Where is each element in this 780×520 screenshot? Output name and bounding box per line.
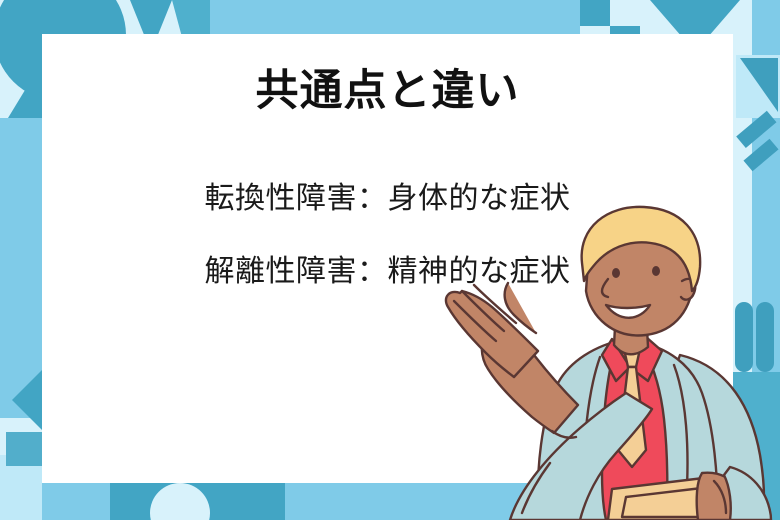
body-line-1: 転換性障害：身体的な症状 [42, 173, 733, 217]
content-card: 共通点と違い 転換性障害：身体的な症状 解離性障害：精神的な症状 [42, 34, 733, 483]
bg-square-left [6, 432, 42, 466]
bg-bottom-left-block [0, 466, 42, 520]
page-title: 共通点と違い [42, 56, 733, 118]
bg-checker-1 [580, 0, 610, 26]
bg-left-band [0, 118, 42, 418]
bg-right-lower-block [733, 372, 780, 520]
slide-canvas: 共通点と違い 転換性障害：身体的な症状 解離性障害：精神的な症状 [0, 0, 780, 520]
body-line-2: 解離性障害：精神的な症状 [42, 246, 733, 290]
